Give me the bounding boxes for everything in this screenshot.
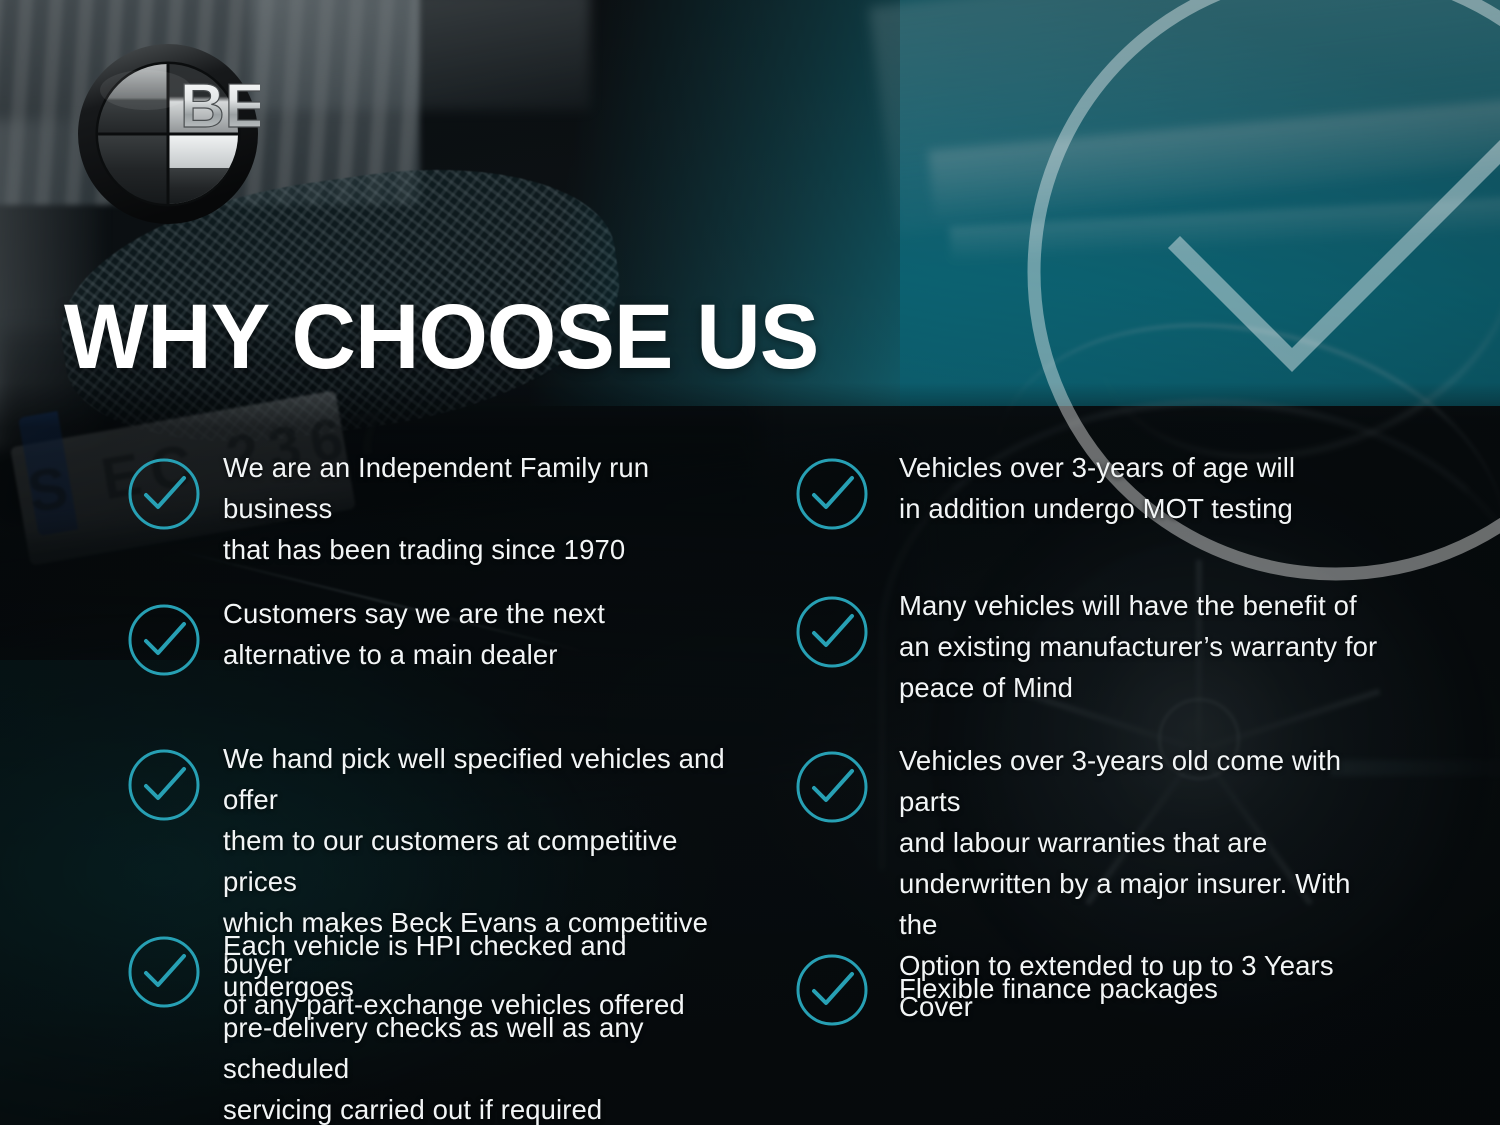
benefit-text: Each vehicle is HPI checked and undergoe… <box>223 925 753 1125</box>
check-circle-icon <box>127 457 201 531</box>
benefit-item: Vehicles over 3-years of age will in add… <box>795 447 1389 531</box>
benefit-text: Vehicles over 3-years of age will in add… <box>899 447 1389 529</box>
benefit-text: Many vehicles will have the benefit of a… <box>899 585 1389 708</box>
check-circle-icon <box>127 748 201 822</box>
check-circle-icon <box>795 595 869 669</box>
benefit-item: Each vehicle is HPI checked and undergoe… <box>127 925 753 1125</box>
check-circle-icon <box>127 603 201 677</box>
benefit-item: Flexible finance packages <box>795 943 1389 1027</box>
page-title: WHY CHOOSE US <box>64 289 818 385</box>
benefits-columns: We are an Independent Family run busines… <box>0 430 1500 1125</box>
check-circle-icon <box>795 953 869 1027</box>
benefit-text: Flexible finance packages <box>899 968 1389 1009</box>
benefit-text: Customers say we are the next alternativ… <box>223 593 753 675</box>
benefit-item: We are an Independent Family run busines… <box>127 447 753 570</box>
why-choose-us-slide: S EC 2367 <box>0 0 1500 1125</box>
logo-letters: BE <box>180 72 260 141</box>
benefit-item: Many vehicles will have the benefit of a… <box>795 585 1389 708</box>
benefit-item: Customers say we are the next alternativ… <box>127 593 753 677</box>
check-circle-icon <box>795 457 869 531</box>
check-circle-icon <box>795 750 869 824</box>
check-circle-icon <box>127 935 201 1009</box>
benefit-text: We are an Independent Family run busines… <box>223 447 753 570</box>
beck-evans-logo[interactable]: BE <box>76 42 260 226</box>
